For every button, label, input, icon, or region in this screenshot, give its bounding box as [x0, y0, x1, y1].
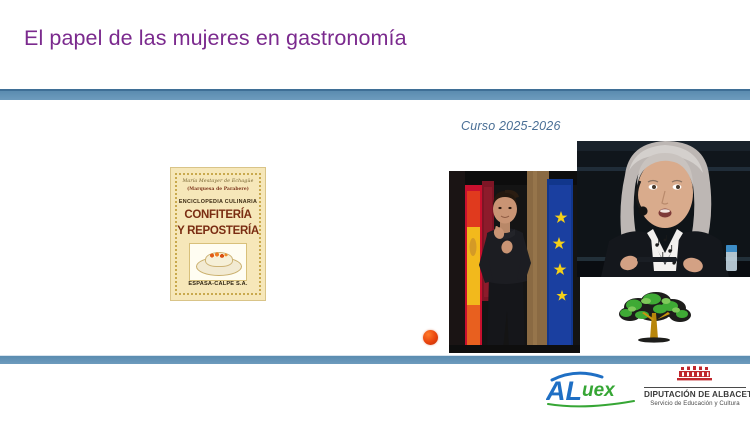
page-title: El papel de las mujeres en gastronomía — [24, 26, 407, 51]
footer-divider — [0, 355, 750, 364]
dessert-illustration — [189, 243, 247, 281]
book-series: ENCICLOPEDIA CULINARIA — [179, 199, 257, 205]
diputacion-subtitle: Servicio de Educación y Cultura — [644, 400, 746, 407]
speaker-photo-graphic — [577, 141, 750, 277]
signer-photo-graphic — [449, 171, 580, 353]
diputacion-crest-icon — [671, 366, 719, 381]
diputacion-rule — [644, 387, 746, 388]
book-author: María Mestayer de Echagüe — [182, 179, 253, 185]
diputacion-logo: DIPUTACIÓN DE ALBACETE Servicio de Educa… — [644, 366, 746, 410]
tree-logo-graphic — [608, 287, 700, 347]
speaker-photo — [577, 141, 750, 277]
book-author-title: (Marquesa de Parabere) — [187, 187, 249, 192]
book-title-line2: Y REPOSTERÍA — [177, 225, 259, 237]
course-label: Curso 2025-2026 — [461, 119, 561, 133]
book-cover-image: María Mestayer de Echagüe (Marquesa de P… — [170, 167, 266, 301]
tree-logo — [608, 287, 700, 347]
signer-photo — [449, 171, 580, 353]
book-cover-frame: María Mestayer de Echagüe (Marquesa de P… — [175, 173, 261, 295]
aluex-logo-graphic: AL uex — [546, 368, 638, 408]
header-divider — [0, 89, 750, 100]
aluex-text-secondary: uex — [582, 380, 616, 401]
diputacion-title: DIPUTACIÓN DE ALBACETE — [644, 390, 746, 399]
orange-bullet-icon — [423, 330, 438, 345]
aluex-logo: AL uex — [546, 368, 638, 408]
book-publisher: ESPASA-CALPE S.A. — [188, 281, 247, 287]
aluex-text-primary: AL — [546, 376, 582, 406]
book-title-line1: CONFITERÍA — [184, 209, 251, 221]
presentation-slide: El papel de las mujeres en gastronomía C… — [0, 0, 750, 422]
